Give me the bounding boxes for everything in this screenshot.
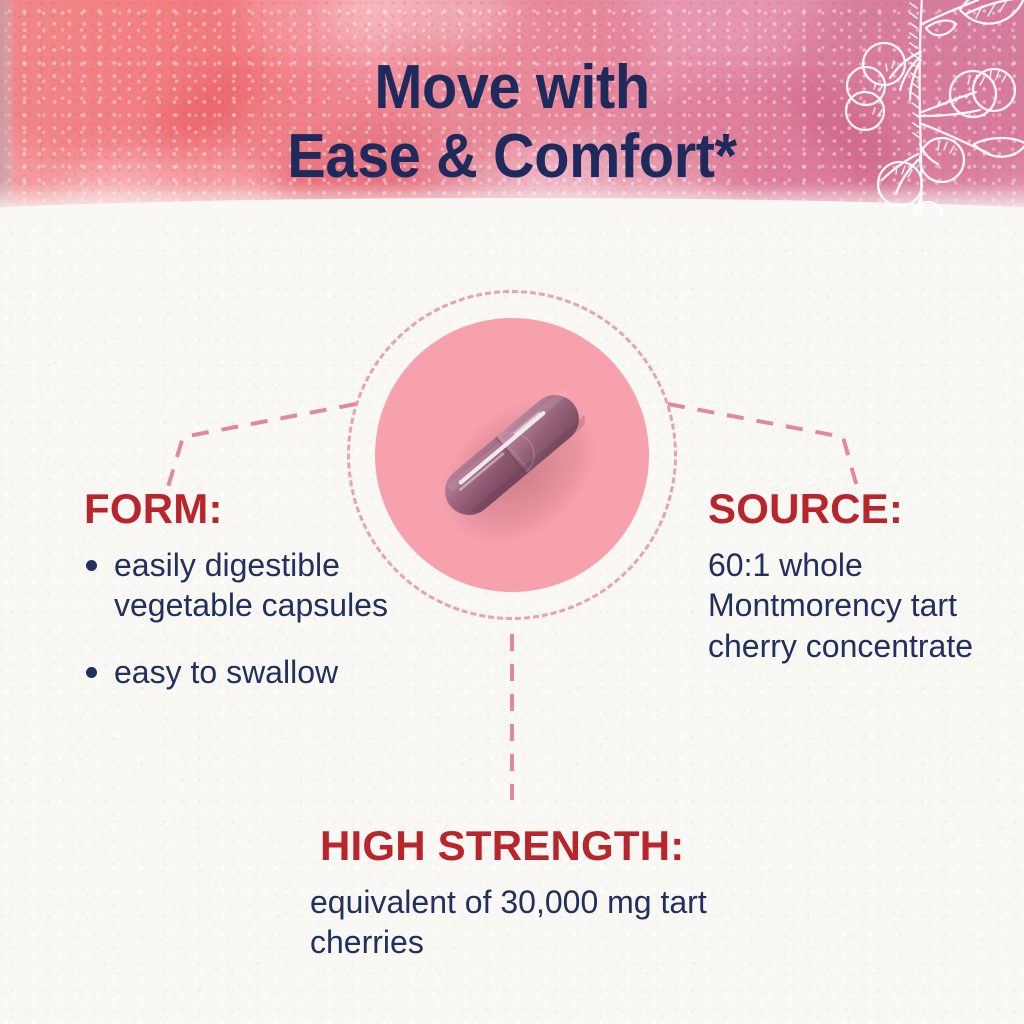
infographic-page: Move with Ease & Comfort* (0, 0, 1024, 1024)
list-item: easy to swallow (84, 652, 414, 692)
high-strength-section: HIGH STRENGTH: equivalent of 30,000 mg t… (310, 824, 780, 963)
connector-line-source (668, 404, 857, 487)
high-strength-heading: HIGH STRENGTH: (320, 824, 780, 868)
list-item: easily digestible vegetable capsules (84, 545, 414, 626)
bullet-dot-icon (86, 667, 97, 678)
form-bullet-text: easy to swallow (114, 654, 338, 690)
page-title: Move with Ease & Comfort* (36, 56, 988, 188)
form-section: FORM: easily digestible vegetable capsul… (84, 487, 414, 692)
form-heading: FORM: (84, 487, 414, 531)
connector-line-form (168, 404, 356, 487)
bullet-dot-icon (86, 560, 97, 571)
source-heading: SOURCE: (708, 487, 988, 531)
high-strength-body: equivalent of 30,000 mg tart cherries (310, 882, 780, 963)
source-body: 60:1 whole Montmorency tart cherry conce… (708, 545, 988, 666)
form-bullet-list: easily digestible vegetable capsules eas… (84, 545, 414, 692)
source-section: SOURCE: 60:1 whole Montmorency tart cher… (708, 487, 988, 666)
page-title-line2: Ease & Comfort* (36, 125, 988, 188)
page-title-line1: Move with (374, 53, 649, 122)
form-bullet-text: easily digestible vegetable capsules (114, 547, 388, 623)
